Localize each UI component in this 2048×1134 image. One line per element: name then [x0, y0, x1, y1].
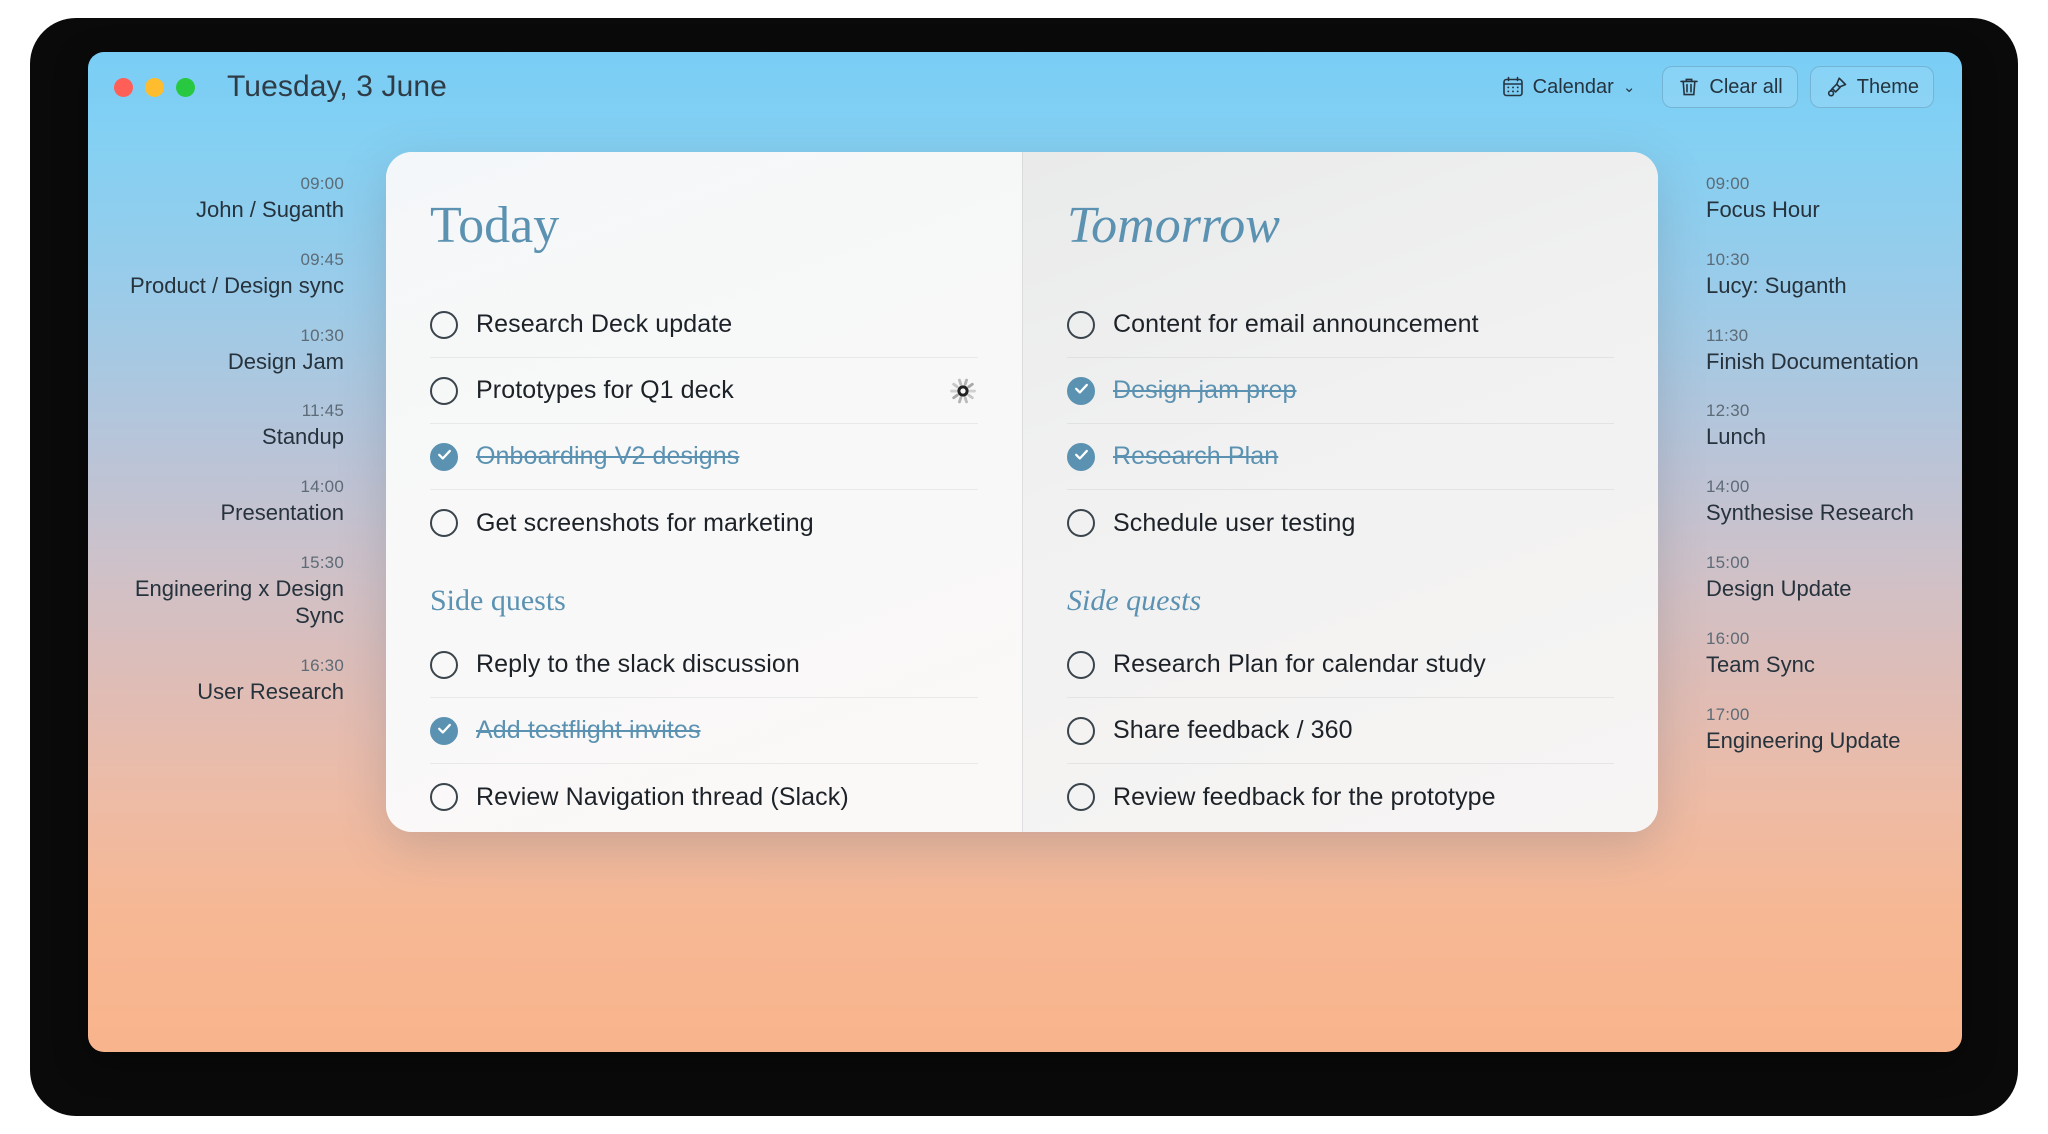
task-checkbox[interactable] — [430, 651, 458, 679]
theme-button[interactable]: Theme — [1810, 66, 1934, 108]
task-row[interactable]: Add testflight invites — [430, 698, 978, 764]
schedule-item-time: 09:00 — [1706, 174, 1820, 194]
close-window-button[interactable] — [114, 78, 133, 97]
schedule-right-item[interactable]: 09:00Focus Hour — [1706, 174, 1820, 224]
task-label: Review feedback for the prototype — [1113, 783, 1496, 812]
task-label: Get screenshots for marketing — [476, 509, 814, 538]
traffic-lights — [114, 78, 195, 97]
task-checkbox[interactable] — [1067, 509, 1095, 537]
task-label: Design jam prep — [1113, 376, 1297, 405]
side-quest-list: Reply to the slack discussionAdd testfli… — [430, 632, 978, 830]
schedule-item-title: Focus Hour — [1706, 197, 1820, 224]
task-checkbox-checked[interactable] — [430, 717, 458, 745]
task-label: Prototypes for Q1 deck — [476, 376, 734, 405]
task-label: Onboarding V2 designs — [476, 442, 739, 471]
task-row[interactable]: Research Plan — [1067, 424, 1614, 490]
schedule-right-item[interactable]: 15:00Design Update — [1706, 553, 1852, 603]
task-label: Research Plan — [1113, 442, 1278, 471]
schedule-item-title: Team Sync — [1706, 652, 1815, 679]
task-checkbox-checked[interactable] — [1067, 443, 1095, 471]
task-row[interactable]: Research Deck update — [430, 292, 978, 358]
task-label: Research Plan for calendar study — [1113, 650, 1486, 679]
task-row[interactable]: Review feedback for the prototype — [1067, 764, 1614, 830]
side-quests-heading: Side quests — [430, 556, 978, 632]
schedule-item-title: Lunch — [1706, 424, 1766, 451]
task-label: Schedule user testing — [1113, 509, 1356, 538]
paintbrush-icon — [1825, 75, 1849, 99]
check-icon — [1073, 380, 1090, 402]
task-checkbox[interactable] — [430, 783, 458, 811]
task-label: Review Navigation thread (Slack) — [476, 783, 849, 812]
task-checkbox[interactable] — [430, 377, 458, 405]
schedule-item-time: 09:00 — [196, 174, 344, 194]
check-icon — [436, 720, 453, 742]
schedule-item-title: Design Update — [1706, 576, 1852, 603]
task-column-inner: TomorrowContent for email announcementDe… — [1023, 152, 1658, 830]
task-label: Research Deck update — [476, 310, 732, 339]
task-row[interactable]: Research Plan for calendar study — [1067, 632, 1614, 698]
clear-all-button[interactable]: Clear all — [1662, 66, 1797, 108]
task-column-inner: TodayResearch Deck updatePrototypes for … — [386, 152, 1022, 830]
schedule-left-item[interactable]: 09:00John / Suganth — [196, 174, 344, 224]
schedule-item-time: 12:30 — [1706, 401, 1766, 421]
schedule-item-time: 15:30 — [112, 553, 344, 573]
schedule-item-title: Engineering x Design Sync — [112, 576, 344, 630]
task-column-today: TodayResearch Deck updatePrototypes for … — [386, 152, 1022, 832]
task-label: Reply to the slack discussion — [476, 650, 800, 679]
schedule-item-time: 14:00 — [1706, 477, 1914, 497]
task-label: Add testflight invites — [476, 716, 701, 745]
schedule-right-item[interactable]: 11:30Finish Documentation — [1706, 326, 1919, 376]
schedule-item-title: User Research — [197, 679, 344, 706]
clear-all-label: Clear all — [1709, 76, 1782, 99]
schedule-right-item[interactable]: 12:30Lunch — [1706, 401, 1766, 451]
task-row[interactable]: Design jam prep — [1067, 358, 1614, 424]
schedule-item-title: Presentation — [220, 500, 344, 527]
check-icon — [1073, 446, 1090, 468]
column-heading: Today — [430, 200, 978, 252]
schedule-right-item[interactable]: 16:00Team Sync — [1706, 629, 1815, 679]
schedule-left-item[interactable]: 14:00Presentation — [220, 477, 344, 527]
task-row[interactable]: Get screenshots for marketing — [430, 490, 978, 556]
schedule-right-item[interactable]: 17:00Engineering Update — [1706, 705, 1900, 755]
task-card: TodayResearch Deck updatePrototypes for … — [386, 152, 1658, 832]
schedule-item-time: 16:00 — [1706, 629, 1815, 649]
task-label: Share feedback / 360 — [1113, 716, 1353, 745]
trash-icon — [1677, 75, 1701, 99]
schedule-right: 09:00Focus Hour10:30Lucy: Suganth11:30Fi… — [1706, 174, 1938, 781]
main-task-list: Research Deck updatePrototypes for Q1 de… — [430, 292, 978, 556]
schedule-item-time: 09:45 — [130, 250, 344, 270]
toolbar: Calendar ⌄ Clear all — [1486, 66, 1934, 108]
calendar-dropdown-label: Calendar — [1533, 76, 1614, 99]
task-row[interactable]: Onboarding V2 designs — [430, 424, 978, 490]
task-checkbox[interactable] — [1067, 783, 1095, 811]
task-row[interactable]: Review Navigation thread (Slack) — [430, 764, 978, 830]
spinner-icon — [948, 376, 978, 406]
task-checkbox-checked[interactable] — [1067, 377, 1095, 405]
schedule-item-title: Engineering Update — [1706, 728, 1900, 755]
task-label: Content for email announcement — [1113, 310, 1479, 339]
schedule-right-item[interactable]: 10:30Lucy: Suganth — [1706, 250, 1847, 300]
schedule-right-item[interactable]: 14:00Synthesise Research — [1706, 477, 1914, 527]
schedule-left-item[interactable]: 10:30Design Jam — [228, 326, 344, 376]
schedule-item-time: 14:00 — [220, 477, 344, 497]
schedule-item-time: 15:00 — [1706, 553, 1852, 573]
screen-root: Tuesday, 3 June — [0, 0, 2048, 1134]
calendar-icon — [1501, 75, 1525, 99]
schedule-left-item[interactable]: 09:45Product / Design sync — [130, 250, 344, 300]
task-row[interactable]: Content for email announcement — [1067, 292, 1614, 358]
side-quests-heading: Side quests — [1067, 556, 1614, 632]
schedule-item-time: 10:30 — [1706, 250, 1847, 270]
schedule-item-time: 11:45 — [262, 401, 344, 421]
column-heading: Tomorrow — [1067, 200, 1614, 252]
schedule-item-time: 11:30 — [1706, 326, 1919, 346]
calendar-dropdown-button[interactable]: Calendar ⌄ — [1486, 66, 1651, 108]
schedule-item-title: Standup — [262, 424, 344, 451]
schedule-item-title: Synthesise Research — [1706, 500, 1914, 527]
page-title: Tuesday, 3 June — [227, 70, 447, 104]
task-checkbox-checked[interactable] — [430, 443, 458, 471]
titlebar: Tuesday, 3 June — [88, 52, 1962, 122]
task-column-tomorrow: TomorrowContent for email announcementDe… — [1022, 152, 1658, 832]
schedule-left: 09:00John / Suganth09:45Product / Design… — [112, 174, 344, 732]
task-row[interactable]: Reply to the slack discussion — [430, 632, 978, 698]
task-row[interactable]: Share feedback / 360 — [1067, 698, 1614, 764]
app-window: Tuesday, 3 June — [88, 52, 1962, 1052]
task-row[interactable]: Schedule user testing — [1067, 490, 1614, 556]
schedule-left-item[interactable]: 16:30User Research — [197, 656, 344, 706]
task-checkbox[interactable] — [430, 509, 458, 537]
main-task-list: Content for email announcementDesign jam… — [1067, 292, 1614, 556]
schedule-left-item[interactable]: 11:45Standup — [262, 401, 344, 451]
maximize-window-button[interactable] — [176, 78, 195, 97]
schedule-item-title: John / Suganth — [196, 197, 344, 224]
schedule-item-time: 10:30 — [228, 326, 344, 346]
schedule-item-time: 16:30 — [197, 656, 344, 676]
schedule-item-time: 17:00 — [1706, 705, 1900, 725]
task-checkbox[interactable] — [1067, 311, 1095, 339]
schedule-item-title: Design Jam — [228, 349, 344, 376]
schedule-item-title: Lucy: Suganth — [1706, 273, 1847, 300]
chevron-down-icon: ⌄ — [1623, 78, 1636, 96]
side-quest-list: Research Plan for calendar studyShare fe… — [1067, 632, 1614, 830]
task-checkbox[interactable] — [1067, 717, 1095, 745]
task-checkbox[interactable] — [430, 311, 458, 339]
schedule-item-title: Finish Documentation — [1706, 349, 1919, 376]
check-icon — [436, 446, 453, 468]
minimize-window-button[interactable] — [145, 78, 164, 97]
task-checkbox[interactable] — [1067, 651, 1095, 679]
schedule-left-item[interactable]: 15:30Engineering x Design Sync — [112, 553, 344, 630]
theme-label: Theme — [1857, 76, 1919, 99]
schedule-item-title: Product / Design sync — [130, 273, 344, 300]
task-row[interactable]: Prototypes for Q1 deck — [430, 358, 978, 424]
